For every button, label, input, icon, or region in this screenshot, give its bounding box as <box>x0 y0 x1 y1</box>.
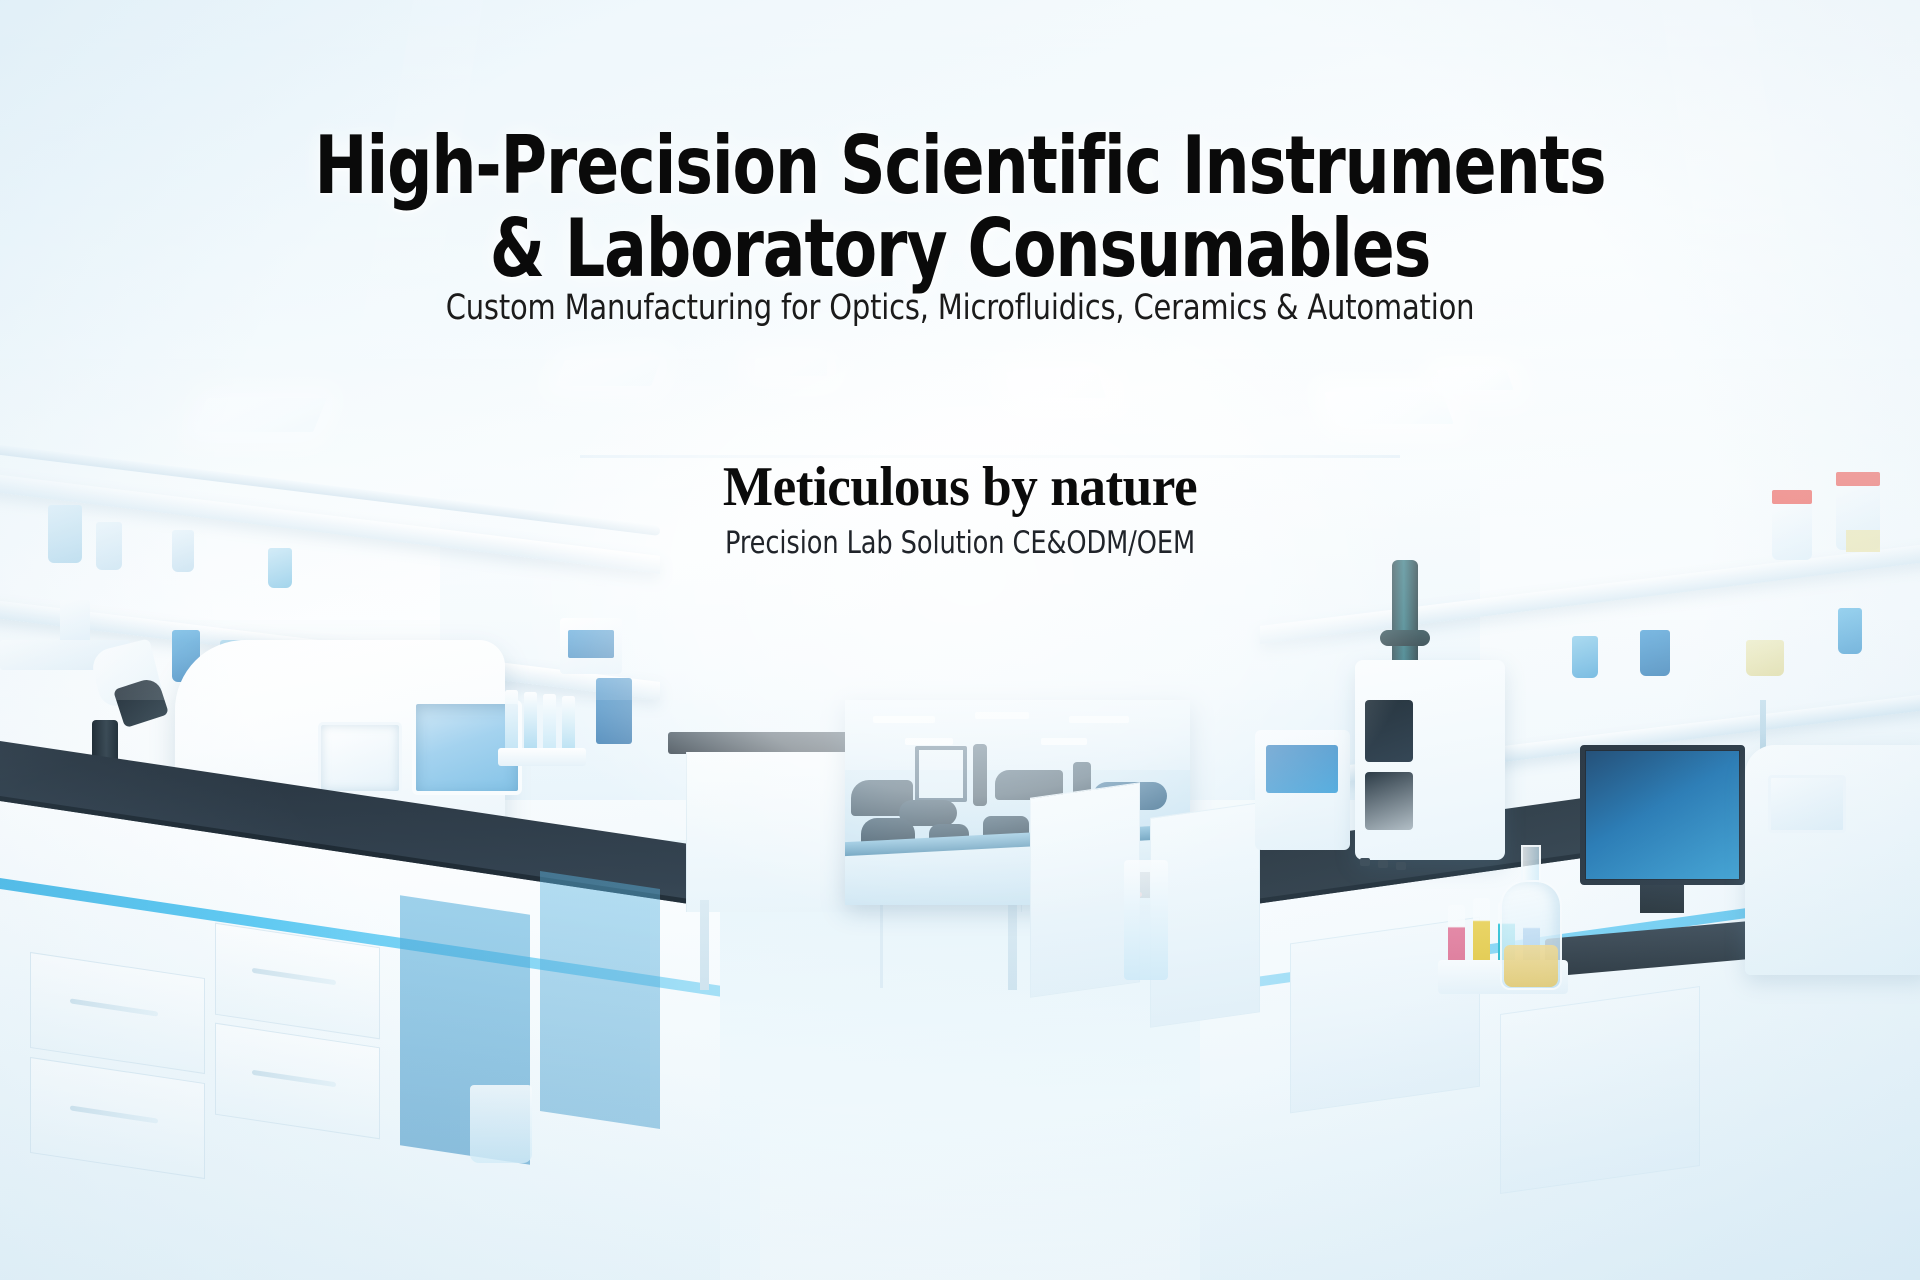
headline-line-2: & Laboratory Consumables <box>115 207 1805 290</box>
banner-subtitle: Custom Manufacturing for Optics, Microfl… <box>77 288 1843 328</box>
text-overlay: High-Precision Scientific Instruments & … <box>0 0 1920 1280</box>
headline-line-1: High-Precision Scientific Instruments <box>115 124 1805 207</box>
hero-banner: High-Precision Scientific Instruments & … <box>0 0 1920 1280</box>
banner-tagline: Precision Lab Solution CE&ODM/OEM <box>77 525 1843 561</box>
banner-headline: High-Precision Scientific Instruments & … <box>115 124 1805 290</box>
banner-slogan: Meticulous by nature <box>48 455 1872 519</box>
